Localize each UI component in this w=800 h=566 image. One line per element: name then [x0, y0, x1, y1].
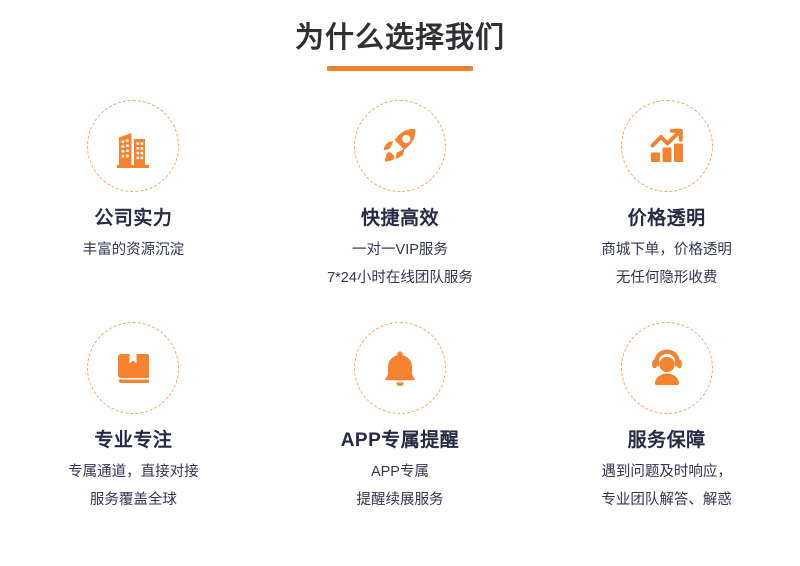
card-description: APP专属 提醒续展服务	[356, 461, 443, 511]
card-line: 服务覆盖全球	[68, 489, 199, 511]
card-title: 价格透明	[628, 206, 706, 232]
feature-card-app-reminder[interactable]: APP专属提醒 APP专属 提醒续展服务	[267, 320, 534, 540]
rocket-icon	[374, 120, 426, 172]
section-header: 为什么选择我们	[0, 18, 800, 71]
book-icon	[108, 343, 158, 393]
icon-ring	[621, 100, 713, 192]
growth-chart-icon	[641, 120, 693, 172]
icon-ring	[621, 322, 713, 414]
card-line: 专业团队解答、解惑	[601, 489, 732, 511]
card-line: 提醒续展服务	[356, 489, 443, 511]
feature-card-professional-focus[interactable]: 专业专注 专属通道，直接对接 服务覆盖全球	[0, 320, 267, 540]
icon-ring	[354, 322, 446, 414]
icon-ring	[354, 100, 446, 192]
card-line: 商城下单，价格透明	[601, 239, 732, 261]
card-title: 公司实力	[94, 206, 172, 232]
headset-support-icon	[641, 342, 693, 394]
card-description: 丰富的资源沉淀	[83, 239, 185, 261]
card-line: 7*24小时在线团队服务	[327, 267, 473, 289]
card-description: 商城下单，价格透明 无任何隐形收费	[601, 239, 732, 289]
feature-grid: 公司实力 丰富的资源沉淀	[0, 100, 800, 540]
card-line: 丰富的资源沉淀	[83, 239, 185, 261]
bell-icon	[375, 343, 425, 393]
card-line: 一对一VIP服务	[327, 239, 473, 261]
card-description: 专属通道，直接对接 服务覆盖全球	[68, 461, 199, 511]
card-description: 遇到问题及时响应， 专业团队解答、解惑	[601, 461, 732, 511]
card-title: APP专属提醒	[341, 428, 460, 454]
feature-card-transparent-pricing[interactable]: 价格透明 商城下单，价格透明 无任何隐形收费	[533, 100, 800, 320]
card-description: 一对一VIP服务 7*24小时在线团队服务	[327, 239, 473, 289]
card-line: APP专属	[356, 461, 443, 483]
office-building-icon	[108, 121, 158, 171]
feature-card-fast-efficient[interactable]: 快捷高效 一对一VIP服务 7*24小时在线团队服务	[267, 100, 534, 320]
icon-ring	[87, 100, 179, 192]
card-line: 无任何隐形收费	[601, 267, 732, 289]
card-line: 遇到问题及时响应，	[601, 461, 732, 483]
icon-ring	[87, 322, 179, 414]
card-title: 专业专注	[94, 428, 172, 454]
why-choose-us-section: 为什么选择我们	[0, 0, 800, 566]
page-title: 为什么选择我们	[0, 18, 800, 58]
title-underline-accent	[327, 66, 473, 71]
card-title: 快捷高效	[361, 206, 439, 232]
card-title: 服务保障	[628, 428, 706, 454]
feature-card-company-strength[interactable]: 公司实力 丰富的资源沉淀	[0, 100, 267, 320]
feature-card-service-guarantee[interactable]: 服务保障 遇到问题及时响应， 专业团队解答、解惑	[533, 320, 800, 540]
card-line: 专属通道，直接对接	[68, 461, 199, 483]
